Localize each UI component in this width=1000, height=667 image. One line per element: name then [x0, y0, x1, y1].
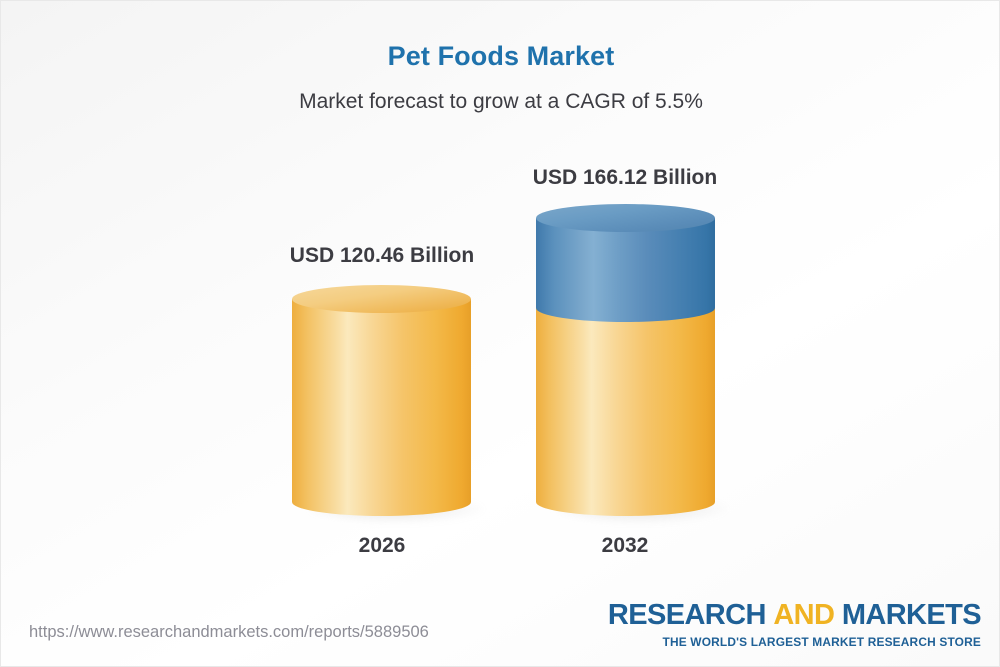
research-and-markets-logo[interactable]: RESEARCH AND MARKETS THE WORLD'S LARGEST…: [608, 601, 981, 649]
bar-value-label-2032: USD 166.12 Billion: [425, 166, 825, 190]
bar-cylinder-2026: [292, 285, 471, 516]
bar-segment-base-2032: [536, 308, 715, 502]
logo-word-research: RESEARCH: [608, 599, 766, 631]
bar-body-base-2032: [536, 308, 715, 502]
source-url[interactable]: https://www.researchandmarkets.com/repor…: [29, 623, 429, 642]
bar-value-label-2026: USD 120.46 Billion: [182, 244, 582, 268]
page-title: Pet Foods Market: [1, 41, 1000, 72]
logo-word-markets: MARKETS: [842, 599, 981, 631]
logo-tagline: THE WORLD'S LARGEST MARKET RESEARCH STOR…: [608, 635, 981, 649]
bar-category-label-2032: 2032: [425, 534, 825, 558]
bar-top-cap-2026: [292, 285, 471, 313]
bar-bottom-cap-2026: [292, 488, 471, 516]
bar-segment-increment-2032: [536, 218, 715, 308]
bar-bottom-cap-2032: [536, 488, 715, 516]
chart-canvas: Pet Foods Market Market forecast to grow…: [0, 0, 1000, 667]
bar-top-cap-2032: [536, 204, 715, 232]
chart-subtitle: Market forecast to grow at a CAGR of 5.5…: [1, 90, 1000, 114]
logo-wordmark: RESEARCH AND MARKETS: [608, 601, 981, 630]
bar-segment-base-2026: [292, 299, 471, 502]
bar-segment-divider-2032: [536, 294, 715, 322]
bar-cylinder-2032: [536, 204, 715, 516]
logo-word-and: AND: [773, 599, 834, 631]
bar-body-2026: [292, 299, 471, 502]
